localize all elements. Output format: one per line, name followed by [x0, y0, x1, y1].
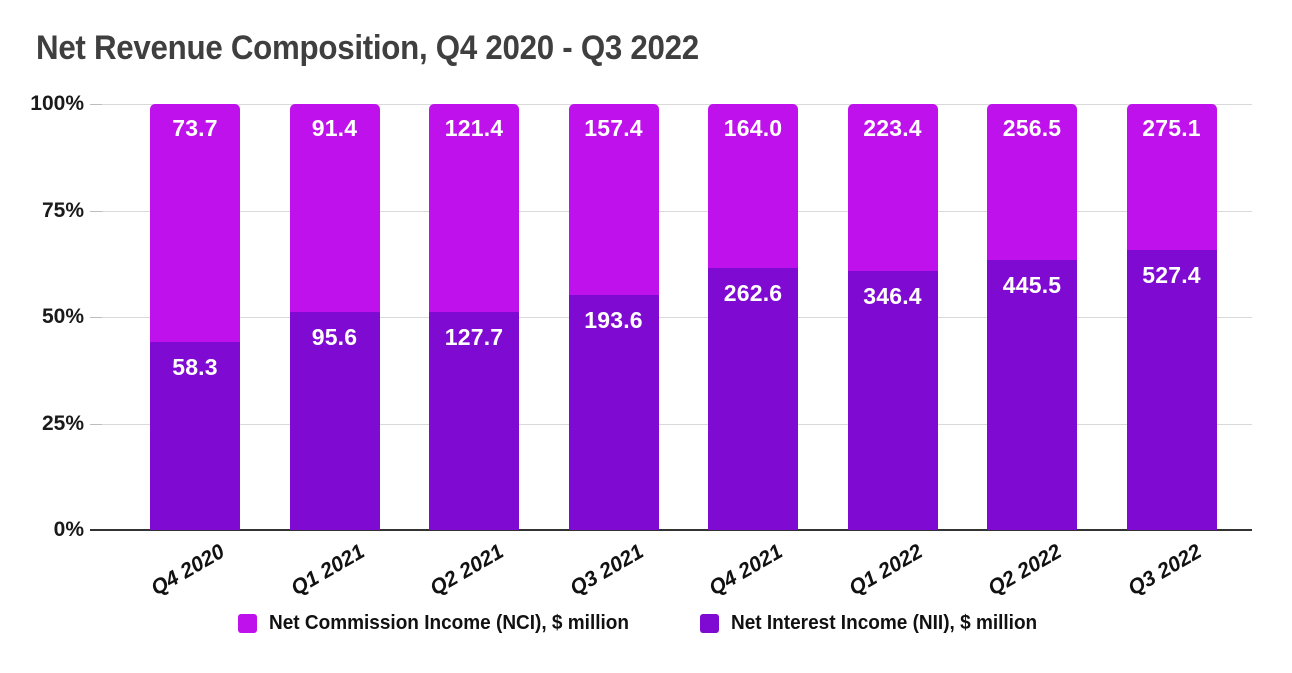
- legend-swatch-icon: [700, 614, 719, 633]
- bars-layer: 73.758.391.495.6121.4127.7157.4193.6164.…: [100, 104, 1252, 530]
- bar-group[interactable]: 164.0262.6: [708, 104, 798, 530]
- bar-segment-nci[interactable]: 91.4: [290, 104, 380, 312]
- bar-group[interactable]: 73.758.3: [150, 104, 240, 530]
- bar-segment-nci[interactable]: 164.0: [708, 104, 798, 268]
- y-tick-mark: [90, 529, 102, 531]
- bar-segment-nii[interactable]: 95.6: [290, 312, 380, 530]
- legend-label: Net Interest Income (NII), $ million: [731, 612, 1037, 635]
- bar-group[interactable]: 256.5445.5: [987, 104, 1077, 530]
- bar-value-label-nci: 121.4: [429, 115, 519, 142]
- legend-label: Net Commission Income (NCI), $ million: [269, 612, 629, 635]
- bar-value-label-nci: 164.0: [708, 115, 798, 142]
- bar-value-label-nii: 58.3: [150, 354, 240, 381]
- bar-segment-nii[interactable]: 193.6: [569, 295, 659, 530]
- bar-value-label-nci: 73.7: [150, 115, 240, 142]
- legend-item[interactable]: Net Commission Income (NCI), $ million: [238, 612, 648, 635]
- bar-segment-nii[interactable]: 527.4: [1127, 250, 1217, 530]
- y-tick-label: 0%: [18, 518, 84, 542]
- bar-segment-nii[interactable]: 262.6: [708, 268, 798, 530]
- legend-item[interactable]: Net Interest Income (NII), $ million: [700, 612, 1053, 635]
- y-tick-mark: [90, 317, 102, 318]
- chart-container: Net Revenue Composition, Q4 2020 - Q3 20…: [0, 0, 1292, 673]
- bar-group[interactable]: 223.4346.4: [848, 104, 938, 530]
- bar-group[interactable]: 275.1527.4: [1127, 104, 1217, 530]
- y-tick-label: 75%: [18, 199, 84, 223]
- bar-group[interactable]: 91.495.6: [290, 104, 380, 530]
- bar-value-label-nii: 127.7: [429, 324, 519, 351]
- bar-segment-nci[interactable]: 73.7: [150, 104, 240, 342]
- bar-segment-nci[interactable]: 157.4: [569, 104, 659, 295]
- legend-swatch-icon: [238, 614, 257, 633]
- bar-value-label-nii: 193.6: [569, 307, 659, 334]
- y-tick-label: 25%: [18, 412, 84, 436]
- bar-value-label-nii: 95.6: [290, 324, 380, 351]
- chart-title: Net Revenue Composition, Q4 2020 - Q3 20…: [36, 29, 699, 68]
- bar-group[interactable]: 121.4127.7: [429, 104, 519, 530]
- bar-segment-nci[interactable]: 275.1: [1127, 104, 1217, 250]
- bar-segment-nci[interactable]: 121.4: [429, 104, 519, 312]
- bar-segment-nci[interactable]: 256.5: [987, 104, 1077, 260]
- bar-value-label-nii: 445.5: [987, 272, 1077, 299]
- chart-legend: Net Commission Income (NCI), $ millionNe…: [0, 612, 1292, 635]
- bar-value-label-nii: 346.4: [848, 283, 938, 310]
- y-tick-mark: [90, 424, 102, 425]
- y-tick-mark: [90, 211, 102, 212]
- bar-value-label-nii: 527.4: [1127, 262, 1217, 289]
- bar-value-label-nci: 157.4: [569, 115, 659, 142]
- bar-value-label-nci: 256.5: [987, 115, 1077, 142]
- bar-segment-nii[interactable]: 445.5: [987, 260, 1077, 530]
- bar-segment-nii[interactable]: 127.7: [429, 312, 519, 530]
- bar-group[interactable]: 157.4193.6: [569, 104, 659, 530]
- bar-value-label-nci: 91.4: [290, 115, 380, 142]
- y-tick-label: 50%: [18, 305, 84, 329]
- y-tick-label: 100%: [18, 92, 84, 116]
- bar-segment-nci[interactable]: 223.4: [848, 104, 938, 271]
- bar-segment-nii[interactable]: 346.4: [848, 271, 938, 530]
- bar-segment-nii[interactable]: 58.3: [150, 342, 240, 530]
- bar-value-label-nci: 223.4: [848, 115, 938, 142]
- plot-area: 73.758.391.495.6121.4127.7157.4193.6164.…: [100, 104, 1252, 530]
- y-tick-mark: [90, 104, 102, 105]
- bar-value-label-nci: 275.1: [1127, 115, 1217, 142]
- bar-value-label-nii: 262.6: [708, 280, 798, 307]
